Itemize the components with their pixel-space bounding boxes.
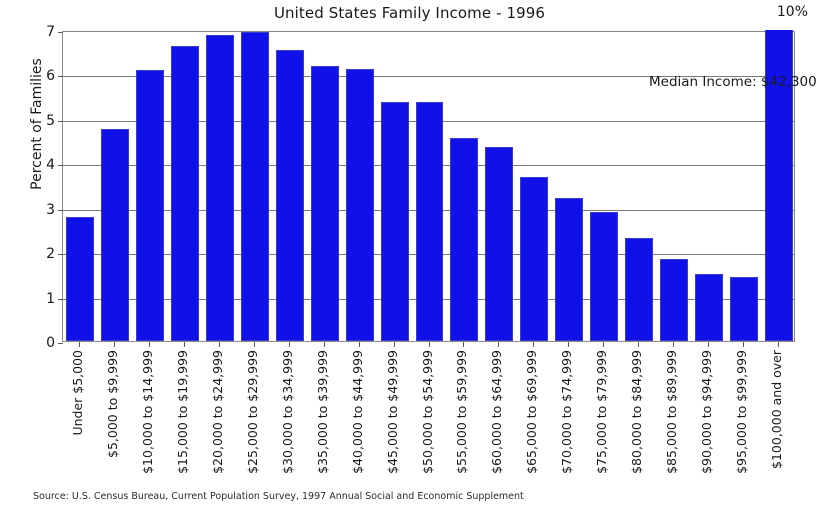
y-tick-label: 3 [46, 202, 55, 218]
x-tick-label: $10,000 to $14,999 [142, 350, 155, 474]
x-tick-mark [254, 342, 255, 347]
bar [416, 102, 444, 341]
y-tick-label: 2 [46, 246, 55, 262]
x-tick-label: $15,000 to $19,999 [177, 350, 190, 474]
x-tick-label: $100,000 and over [771, 350, 784, 469]
y-tick-label: 7 [46, 24, 55, 40]
bar [206, 35, 234, 341]
x-tick-mark [429, 342, 430, 347]
y-tick-label: 5 [46, 113, 55, 129]
x-tick-label: $20,000 to $24,999 [212, 350, 225, 474]
x-tick-label: $5,000 to $9,999 [107, 350, 120, 458]
bar [660, 259, 688, 341]
bar [241, 32, 269, 341]
x-tick-mark [673, 342, 674, 347]
x-tick-mark [149, 342, 150, 347]
x-tick-mark [498, 342, 499, 347]
x-tick-label: Under $5,000 [72, 350, 85, 436]
y-tick-label: 0 [46, 335, 55, 351]
x-tick-label: $70,000 to $74,999 [561, 350, 574, 474]
x-tick-mark [603, 342, 604, 347]
bar [555, 198, 583, 341]
bar [101, 129, 129, 341]
x-tick-label: $65,000 to $69,999 [526, 350, 539, 474]
y-axis-title: Percent of Families [29, 24, 45, 224]
bar [311, 66, 339, 341]
x-tick-label: $95,000 to $99,999 [736, 350, 749, 474]
bar [450, 138, 478, 341]
bar [346, 69, 374, 341]
bar [171, 46, 199, 341]
bar [66, 217, 94, 341]
plot-area: 01234567 Median Income: $42,300 [62, 31, 795, 342]
x-tick-mark [533, 342, 534, 347]
x-tick-label: $80,000 to $84,999 [631, 350, 644, 474]
x-tick-label: $35,000 to $39,999 [317, 350, 330, 474]
x-tick-mark [778, 342, 779, 347]
x-tick-label: $60,000 to $64,999 [491, 350, 504, 474]
x-tick-label: $45,000 to $49,999 [387, 350, 400, 474]
bar [625, 238, 653, 341]
bar [276, 50, 304, 341]
x-tick-label: $30,000 to $34,999 [282, 350, 295, 474]
x-tick-mark [79, 342, 80, 347]
bar [485, 147, 513, 341]
x-tick-mark [743, 342, 744, 347]
bar [136, 70, 164, 341]
x-tick-mark [463, 342, 464, 347]
x-tick-mark [114, 342, 115, 347]
x-tick-mark [219, 342, 220, 347]
x-tick-label: $85,000 to $89,999 [666, 350, 679, 474]
x-tick-mark [638, 342, 639, 347]
bar [381, 102, 409, 341]
clipped-bar-value-label: 10% [777, 4, 808, 20]
median-income-annotation: Median Income: $42,300 [649, 74, 817, 90]
x-tick-mark [359, 342, 360, 347]
x-tick-label: $90,000 to $94,999 [701, 350, 714, 474]
bar [695, 274, 723, 341]
bar [520, 177, 548, 341]
x-tick-mark [324, 342, 325, 347]
x-tick-label: $75,000 to $79,999 [596, 350, 609, 474]
x-tick-label: $25,000 to $29,999 [247, 350, 260, 474]
source-note: Source: U.S. Census Bureau, Current Popu… [33, 491, 524, 502]
x-tick-label: $50,000 to $54,999 [422, 350, 435, 474]
x-tick-label: $55,000 to $59,999 [456, 350, 469, 474]
x-tick-mark [568, 342, 569, 347]
y-tick-label: 6 [46, 68, 55, 84]
x-tick-label: $40,000 to $44,999 [352, 350, 365, 474]
bar [730, 277, 758, 341]
bar [590, 212, 618, 341]
x-axis: Under $5,000$5,000 to $9,999$10,000 to $… [62, 342, 795, 482]
x-tick-mark [394, 342, 395, 347]
page-title: United States Family Income - 1996 [0, 4, 819, 22]
x-tick-mark [184, 342, 185, 347]
y-tick-label: 1 [46, 291, 55, 307]
x-tick-mark [289, 342, 290, 347]
x-tick-mark [708, 342, 709, 347]
y-tick-label: 4 [46, 157, 55, 173]
